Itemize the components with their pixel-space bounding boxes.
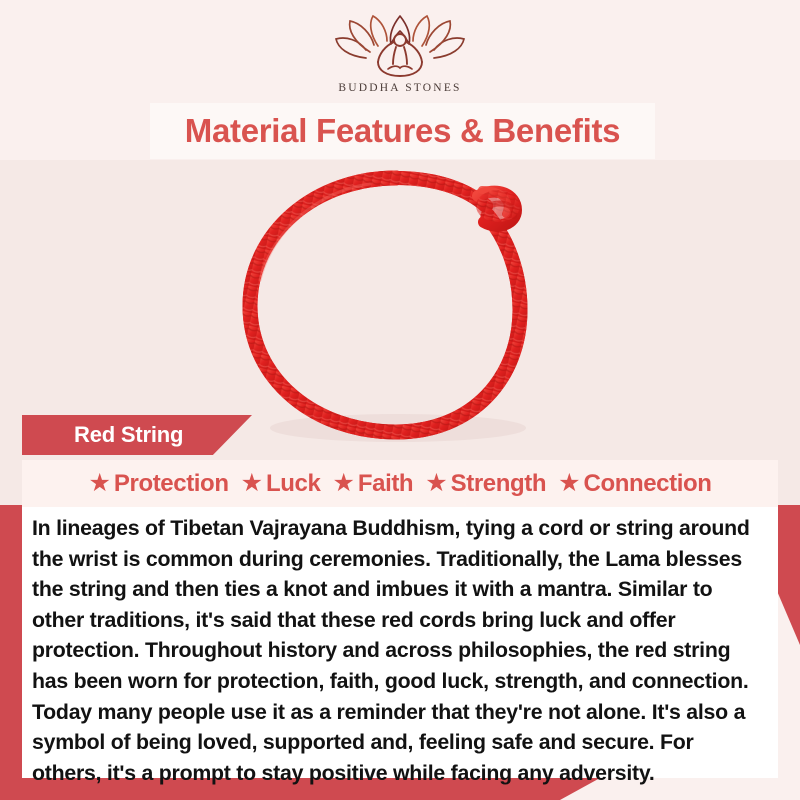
benefit-label: Connection [584,470,712,498]
star-icon: ★ [88,471,110,496]
benefit-item: ★ Connection [554,470,715,498]
benefit-item: ★ Faith [328,470,417,498]
benefits-strip: ★ Protection ★ Luck ★ Faith ★ Strength ★… [22,460,778,507]
poster-root: BUDDHA STONES Material Features & Benefi… [0,0,800,800]
star-icon: ★ [425,471,447,496]
lotus-meditation-icon [332,12,468,80]
benefit-label: Strength [451,470,546,498]
benefit-label: Luck [266,470,320,498]
description-panel: In lineages of Tibetan Vajrayana Buddhis… [22,507,778,778]
page-title: Material Features & Benefits [185,112,620,150]
benefit-item: ★ Strength [421,470,550,498]
title-banner: Material Features & Benefits [150,103,655,159]
star-icon: ★ [558,471,580,496]
star-icon: ★ [241,471,263,496]
red-string-bracelet-image [220,160,580,480]
brand-wordmark: BUDDHA STONES [300,82,500,94]
material-name-ribbon: Red String [22,415,252,455]
benefit-label: Protection [114,470,229,498]
benefit-item: ★ Protection [84,470,232,498]
material-name-label: Red String [74,422,183,448]
benefit-item: ★ Luck [237,470,325,498]
brand-logo: BUDDHA STONES [300,12,500,94]
description-paragraph: In lineages of Tibetan Vajrayana Buddhis… [32,513,764,788]
benefit-label: Faith [358,470,413,498]
star-icon: ★ [332,471,354,496]
